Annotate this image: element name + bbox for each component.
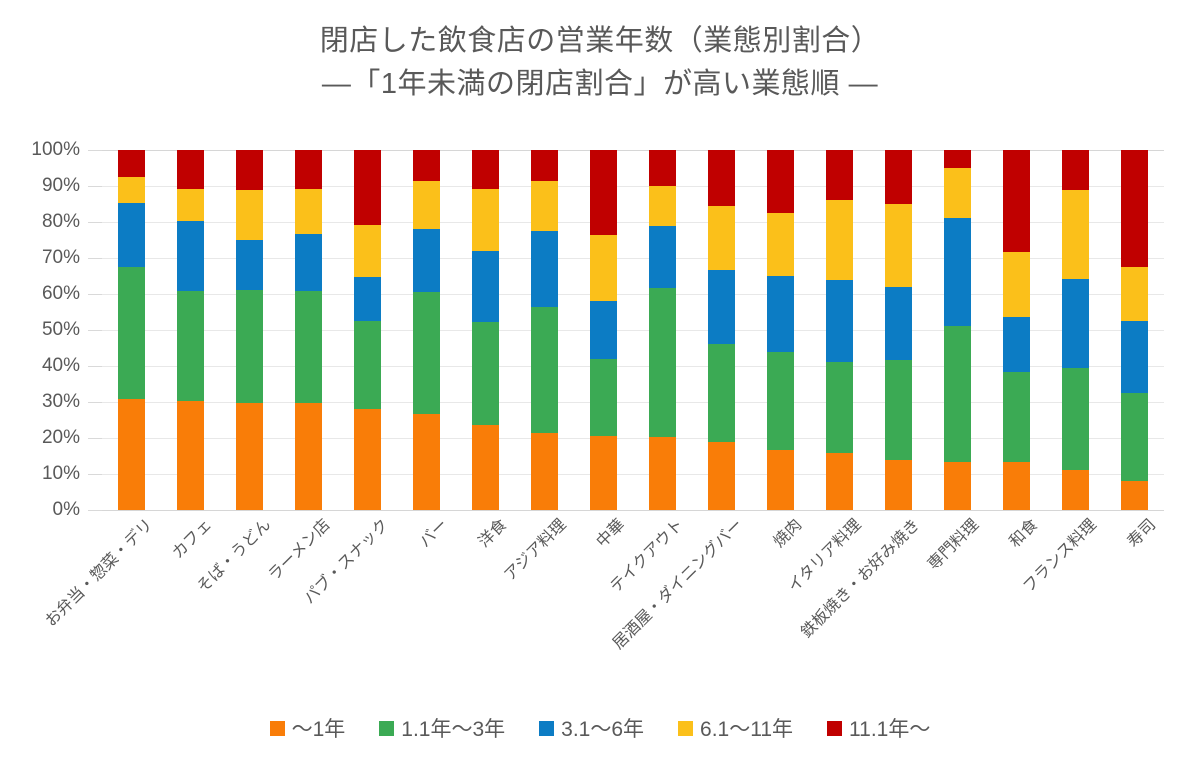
bar-column[interactable] (1105, 150, 1164, 510)
bar-segment[interactable] (531, 433, 558, 510)
bar-segment[interactable] (295, 150, 322, 189)
x-axis-tick-label: バー (412, 512, 452, 552)
chart-root: 閉店した飲食店の営業年数（業態別割合） ―「1年未満の閉店割合」が高い業態順 ―… (0, 0, 1200, 761)
legend-label: 11.1年～ (849, 713, 930, 743)
bar-segment[interactable] (295, 403, 322, 510)
bar-column[interactable] (515, 150, 574, 510)
chart-legend: ～1年1.1年～3年3.1～6年6.1～11年11.1年～ (0, 713, 1200, 743)
bar-segment[interactable] (590, 359, 617, 436)
bar-segment[interactable] (826, 362, 853, 453)
bar-segment[interactable] (177, 150, 204, 189)
bar-segment[interactable] (767, 450, 794, 510)
legend-swatch-icon (379, 721, 394, 736)
bar-stack[interactable] (885, 150, 912, 510)
y-axis-tick-label: 90% (42, 175, 80, 197)
bar-segment[interactable] (472, 189, 499, 251)
y-axis-tick-label: 50% (42, 319, 80, 341)
x-axis-tick-label: お弁当・惣菜・デリ (38, 512, 157, 631)
bar-segment[interactable] (1121, 321, 1148, 393)
bar-segment[interactable] (472, 251, 499, 322)
bar-segment[interactable] (826, 150, 853, 200)
bar-segment[interactable] (531, 150, 558, 181)
y-axis-tick-mark (88, 402, 102, 403)
legend-swatch-icon (270, 721, 285, 736)
bar-stack[interactable] (295, 150, 322, 510)
x-axis-tick-label: カフェ (165, 512, 216, 563)
bar-segment[interactable] (531, 181, 558, 231)
bar-segment[interactable] (413, 150, 440, 181)
y-axis-tick-mark (88, 330, 102, 331)
y-axis-tick-label: 70% (42, 247, 80, 269)
bar-segment[interactable] (118, 150, 145, 177)
y-axis-tick-label: 40% (42, 355, 80, 377)
bar-segment[interactable] (767, 213, 794, 276)
y-axis-tick-mark (88, 186, 102, 187)
bar-segment[interactable] (472, 425, 499, 510)
bar-segment[interactable] (1062, 368, 1089, 471)
bar-segment[interactable] (1003, 317, 1030, 372)
bar-segment[interactable] (413, 292, 440, 414)
bar-segment[interactable] (1121, 393, 1148, 481)
x-axis-tick-label: 和食 (1002, 512, 1042, 552)
bar-segment[interactable] (590, 436, 617, 510)
bar-segment[interactable] (413, 181, 440, 230)
bar-segment[interactable] (236, 240, 263, 290)
bar-stack[interactable] (708, 150, 735, 510)
bar-column[interactable] (102, 150, 161, 510)
bar-column[interactable] (810, 150, 869, 510)
bar-segment[interactable] (472, 150, 499, 189)
bar-column[interactable] (161, 150, 220, 510)
x-axis-tick-label: 専門料理 (920, 512, 982, 574)
bar-segment[interactable] (885, 150, 912, 204)
plot-area (102, 150, 1164, 510)
bar-segment[interactable] (236, 403, 263, 510)
y-axis-tick-mark (88, 438, 102, 439)
bar-segment[interactable] (295, 189, 322, 234)
bar-segment[interactable] (944, 462, 971, 510)
bar-segment[interactable] (708, 344, 735, 441)
y-axis-tick-mark (88, 474, 102, 475)
bar-stack[interactable] (590, 150, 617, 510)
bar-segment[interactable] (354, 277, 381, 321)
y-axis-tick-mark (88, 150, 102, 151)
bar-segment[interactable] (1062, 470, 1089, 510)
x-axis-labels: お弁当・惣菜・デリカフェそば・うどんラーメン店パブ・スナックバー洋食アジア料理中… (102, 512, 1164, 682)
bar-stack[interactable] (118, 150, 145, 510)
x-axis-tick-label: 焼肉 (766, 512, 806, 552)
bar-segment[interactable] (944, 326, 971, 462)
bar-segment[interactable] (944, 218, 971, 326)
page-title: 閉店した飲食店の営業年数（業態別割合） (0, 20, 1200, 62)
bar-stack[interactable] (1062, 150, 1089, 510)
bar-segment[interactable] (1003, 462, 1030, 510)
y-axis-tick-mark (88, 510, 102, 511)
bar-column[interactable] (279, 150, 338, 510)
bar-segment[interactable] (177, 291, 204, 401)
y-axis-tick-label: 80% (42, 211, 80, 233)
bar-column[interactable] (338, 150, 397, 510)
bar-series-container (102, 150, 1164, 510)
bar-segment[interactable] (590, 150, 617, 235)
bar-segment[interactable] (295, 291, 322, 403)
bar-column[interactable] (633, 150, 692, 510)
bar-segment[interactable] (1121, 481, 1148, 510)
gridline (102, 510, 1164, 511)
bar-stack[interactable] (413, 150, 440, 510)
bar-segment[interactable] (590, 235, 617, 301)
bar-segment[interactable] (649, 150, 676, 186)
bar-segment[interactable] (649, 288, 676, 437)
bar-segment[interactable] (236, 290, 263, 402)
legend-swatch-icon (678, 721, 693, 736)
bar-segment[interactable] (236, 190, 263, 240)
bar-segment[interactable] (885, 360, 912, 460)
bar-column[interactable] (692, 150, 751, 510)
bar-column[interactable] (928, 150, 987, 510)
y-axis-tick-label: 30% (42, 391, 80, 413)
bar-segment[interactable] (1062, 190, 1089, 279)
bar-segment[interactable] (177, 401, 204, 510)
bar-stack[interactable] (767, 150, 794, 510)
bar-column[interactable] (456, 150, 515, 510)
bar-segment[interactable] (177, 189, 204, 221)
y-axis-tick-label: 10% (42, 463, 80, 485)
y-axis-tick-mark (88, 294, 102, 295)
bar-segment[interactable] (885, 204, 912, 287)
bar-segment[interactable] (118, 399, 145, 510)
bar-column[interactable] (397, 150, 456, 510)
legend-item[interactable]: 1.1年～3年 (379, 713, 505, 743)
bar-segment[interactable] (531, 307, 558, 433)
bar-segment[interactable] (177, 221, 204, 292)
bar-segment[interactable] (1062, 279, 1089, 368)
bar-segment[interactable] (118, 177, 145, 203)
bar-segment[interactable] (413, 229, 440, 292)
legend-item[interactable]: ～1年 (270, 713, 346, 743)
bar-segment[interactable] (531, 231, 558, 307)
y-axis-tick-label: 100% (31, 139, 80, 161)
y-axis-tick-label: 20% (42, 427, 80, 449)
bar-segment[interactable] (767, 276, 794, 352)
bar-stack[interactable] (354, 150, 381, 510)
bar-column[interactable] (987, 150, 1046, 510)
bar-segment[interactable] (354, 225, 381, 278)
legend-label: 6.1～11年 (700, 713, 793, 743)
legend-item[interactable]: 3.1～6年 (539, 713, 644, 743)
bar-stack[interactable] (1121, 150, 1148, 510)
bar-segment[interactable] (826, 200, 853, 279)
bar-stack[interactable] (1003, 150, 1030, 510)
bar-segment[interactable] (944, 150, 971, 168)
bar-segment[interactable] (354, 321, 381, 409)
bar-segment[interactable] (885, 460, 912, 510)
bar-column[interactable] (869, 150, 928, 510)
bar-segment[interactable] (118, 267, 145, 399)
bar-segment[interactable] (236, 150, 263, 190)
bar-segment[interactable] (708, 270, 735, 345)
bar-segment[interactable] (1121, 150, 1148, 267)
bar-segment[interactable] (295, 234, 322, 291)
bar-column[interactable] (751, 150, 810, 510)
bar-segment[interactable] (885, 287, 912, 360)
bar-segment[interactable] (708, 150, 735, 206)
bar-column[interactable] (1046, 150, 1105, 510)
bar-segment[interactable] (354, 409, 381, 510)
legend-swatch-icon (539, 721, 554, 736)
bar-segment[interactable] (767, 150, 794, 213)
chart-title-block: 閉店した飲食店の営業年数（業態別割合） ―「1年未満の閉店割合」が高い業態順 ― (0, 20, 1200, 106)
y-axis-tick-label: 0% (53, 499, 80, 521)
bar-stack[interactable] (177, 150, 204, 510)
legend-swatch-icon (827, 721, 842, 736)
bar-segment[interactable] (826, 453, 853, 510)
bar-stack[interactable] (649, 150, 676, 510)
bar-segment[interactable] (767, 352, 794, 450)
bar-column[interactable] (220, 150, 279, 510)
bar-segment[interactable] (472, 322, 499, 425)
x-axis-tick-label: アジア料理 (497, 512, 570, 585)
bar-segment[interactable] (944, 168, 971, 218)
bar-segment[interactable] (1062, 150, 1089, 190)
y-axis-tick-label: 60% (42, 283, 80, 305)
y-axis: 100%90%80%70%60%50%40%30%20%10%0% (0, 150, 86, 510)
legend-label: ～1年 (292, 713, 346, 743)
bar-stack[interactable] (826, 150, 853, 510)
bar-segment[interactable] (1003, 150, 1030, 252)
bar-segment[interactable] (354, 150, 381, 225)
chart-subtitle: ―「1年未満の閉店割合」が高い業態順 ― (0, 62, 1200, 106)
legend-item[interactable]: 11.1年～ (827, 713, 930, 743)
bar-segment[interactable] (708, 206, 735, 270)
bar-segment[interactable] (413, 414, 440, 510)
x-axis-tick-label: 洋食 (471, 512, 511, 552)
bar-stack[interactable] (472, 150, 499, 510)
bar-segment[interactable] (649, 437, 676, 510)
y-axis-tick-mark (88, 222, 102, 223)
x-axis-tick-label: 寿司 (1120, 512, 1160, 552)
bar-stack[interactable] (944, 150, 971, 510)
legend-item[interactable]: 6.1～11年 (678, 713, 793, 743)
bar-segment[interactable] (118, 203, 145, 267)
bar-segment[interactable] (649, 226, 676, 288)
y-axis-tick-mark (88, 258, 102, 259)
bar-stack[interactable] (236, 150, 263, 510)
bar-column[interactable] (574, 150, 633, 510)
bar-segment[interactable] (1003, 372, 1030, 462)
bar-stack[interactable] (531, 150, 558, 510)
bar-segment[interactable] (1121, 267, 1148, 321)
y-axis-tick-mark (88, 366, 102, 367)
bar-segment[interactable] (826, 280, 853, 363)
bar-segment[interactable] (649, 186, 676, 226)
bar-segment[interactable] (1003, 252, 1030, 318)
bar-segment[interactable] (708, 442, 735, 510)
legend-label: 1.1年～3年 (401, 713, 505, 743)
plot-wrap: 100%90%80%70%60%50%40%30%20%10%0% (0, 150, 1200, 510)
bar-segment[interactable] (590, 301, 617, 359)
x-axis-tick-label: 中華 (589, 512, 629, 552)
legend-label: 3.1～6年 (561, 713, 644, 743)
